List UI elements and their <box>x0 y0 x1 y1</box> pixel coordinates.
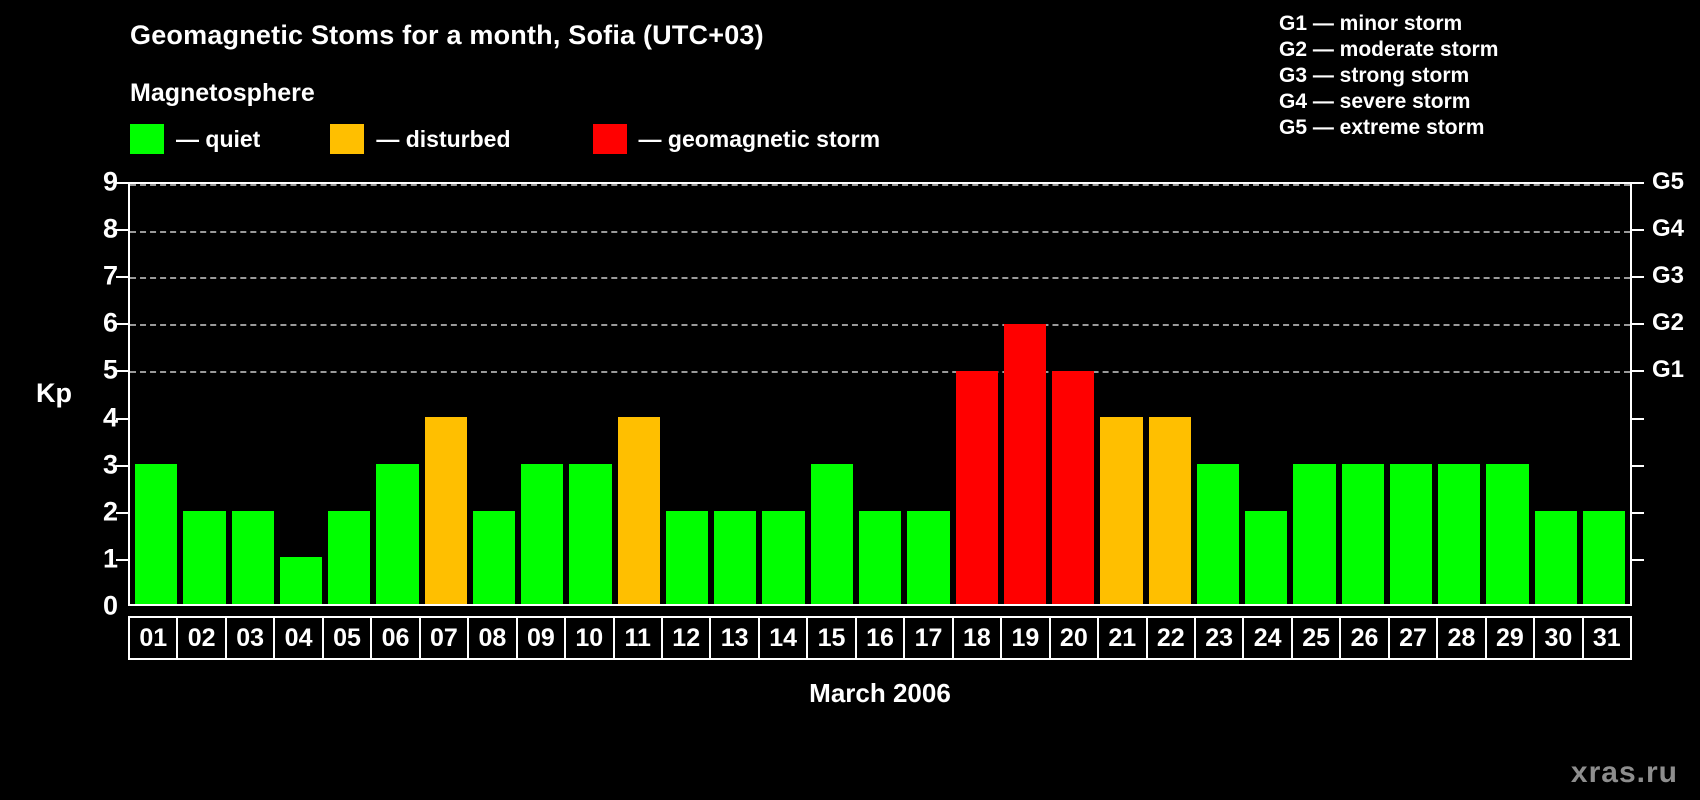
y-axis-tick-label: 8 <box>84 214 118 245</box>
watermark: xras.ru <box>1571 756 1678 790</box>
x-axis-day-cell[interactable]: 25 <box>1293 618 1341 658</box>
y-axis-tick-label: 0 <box>84 591 118 622</box>
bar-slot[interactable] <box>325 184 373 604</box>
x-axis-day-cell[interactable]: 27 <box>1390 618 1438 658</box>
x-axis-day-cell[interactable]: 26 <box>1341 618 1389 658</box>
bar-slot[interactable] <box>1483 184 1531 604</box>
x-axis-day-cell[interactable]: 18 <box>954 618 1002 658</box>
y-axis-tick-mark <box>116 323 128 325</box>
bar-slot[interactable] <box>229 184 277 604</box>
g-axis-tick-mark <box>1632 512 1644 514</box>
bar-slot[interactable] <box>1387 184 1435 604</box>
bar-slot[interactable] <box>759 184 807 604</box>
bar-slot[interactable] <box>953 184 1001 604</box>
x-axis-day-labels: 0102030405060708091011121314151617181920… <box>128 616 1632 660</box>
bar-slot[interactable] <box>663 184 711 604</box>
y-axis-tick-mark <box>116 370 128 372</box>
x-axis-day-cell[interactable]: 20 <box>1051 618 1099 658</box>
g-axis-tick-label: G3 <box>1652 262 1684 290</box>
bar[interactable] <box>1342 464 1384 604</box>
x-axis-day-cell[interactable]: 21 <box>1099 618 1147 658</box>
bar[interactable] <box>1052 371 1094 604</box>
bar-slot[interactable] <box>132 184 180 604</box>
y-axis-tick-label: 2 <box>84 496 118 527</box>
x-axis-day-cell[interactable]: 02 <box>178 618 226 658</box>
bar[interactable] <box>232 511 274 604</box>
y-axis-tick-mark <box>116 418 128 420</box>
bar[interactable] <box>1100 417 1142 604</box>
bar[interactable] <box>1486 464 1528 604</box>
g-axis-tick-mark <box>1632 323 1644 325</box>
bar-slot[interactable] <box>566 184 614 604</box>
y-axis-tick-label: 9 <box>84 167 118 198</box>
g-axis-tick-label: G1 <box>1652 356 1684 384</box>
bar-slot[interactable] <box>1001 184 1049 604</box>
bar-slot[interactable] <box>808 184 856 604</box>
bar[interactable] <box>618 417 660 604</box>
g-axis-tick-label: G2 <box>1652 309 1684 337</box>
bar[interactable] <box>183 511 225 604</box>
x-axis-day-cell[interactable]: 19 <box>1002 618 1050 658</box>
x-axis-day-cell[interactable]: 22 <box>1148 618 1196 658</box>
bar[interactable] <box>1390 464 1432 604</box>
x-axis-day-cell[interactable]: 29 <box>1487 618 1535 658</box>
bar-slot[interactable] <box>422 184 470 604</box>
x-axis-day-cell[interactable]: 24 <box>1244 618 1292 658</box>
y-axis-tick-mark <box>116 465 128 467</box>
bar[interactable] <box>280 557 322 604</box>
g-axis-tick-mark <box>1632 229 1644 231</box>
bar-slot[interactable] <box>615 184 663 604</box>
g-axis-tick-mark <box>1632 276 1644 278</box>
bar-slot[interactable] <box>711 184 759 604</box>
x-axis-day-cell[interactable]: 17 <box>905 618 953 658</box>
bar-slot[interactable] <box>1532 184 1580 604</box>
y-axis-tick-mark <box>116 182 128 184</box>
bar-slot[interactable] <box>856 184 904 604</box>
y-axis-tick-mark <box>116 229 128 231</box>
plot-area <box>128 182 1632 606</box>
bar-slot[interactable] <box>180 184 228 604</box>
x-axis-day-cell[interactable]: 23 <box>1196 618 1244 658</box>
y-axis-tick-label: 4 <box>84 402 118 433</box>
x-axis-day-cell[interactable]: 04 <box>275 618 323 658</box>
plot-wrapper: Kp 0123456789 G1G2G3G4G5 010203040506070… <box>0 0 1700 800</box>
g-axis-tick-mark <box>1632 559 1644 561</box>
bar-slot[interactable] <box>1435 184 1483 604</box>
bars-container <box>130 184 1630 604</box>
bar-slot[interactable] <box>1290 184 1338 604</box>
bar[interactable] <box>1293 464 1335 604</box>
g-axis-tick-label: G5 <box>1652 168 1684 196</box>
bar-slot[interactable] <box>1146 184 1194 604</box>
y-axis-tick-mark <box>116 559 128 561</box>
x-axis-day-cell[interactable]: 09 <box>518 618 566 658</box>
bar[interactable] <box>569 464 611 604</box>
bar[interactable] <box>1004 324 1046 604</box>
bar[interactable] <box>811 464 853 604</box>
bar[interactable] <box>376 464 418 604</box>
x-axis-day-cell[interactable]: 31 <box>1584 618 1630 658</box>
x-axis-day-cell[interactable]: 13 <box>711 618 759 658</box>
bar-slot[interactable] <box>470 184 518 604</box>
y-axis-tick-label: 6 <box>84 308 118 339</box>
y-axis-tick-label: 7 <box>84 261 118 292</box>
bar-slot[interactable] <box>277 184 325 604</box>
x-axis-day-cell[interactable]: 28 <box>1438 618 1486 658</box>
bar-slot[interactable] <box>1580 184 1628 604</box>
bar[interactable] <box>473 511 515 604</box>
x-axis-day-cell[interactable]: 10 <box>566 618 614 658</box>
x-axis-day-cell[interactable]: 11 <box>615 618 663 658</box>
bar[interactable] <box>956 371 998 604</box>
x-axis-day-cell[interactable]: 08 <box>469 618 517 658</box>
bar-slot[interactable] <box>1049 184 1097 604</box>
bar[interactable] <box>714 511 756 604</box>
y-axis-tick-label: 1 <box>84 543 118 574</box>
bar[interactable] <box>1438 464 1480 604</box>
bar[interactable] <box>666 511 708 604</box>
y-axis-tick-mark <box>116 512 128 514</box>
bar-slot[interactable] <box>1194 184 1242 604</box>
x-axis-title: March 2006 <box>128 678 1632 709</box>
x-axis-day-cell[interactable]: 03 <box>227 618 275 658</box>
bar[interactable] <box>1197 464 1239 604</box>
x-axis-day-cell[interactable]: 05 <box>324 618 372 658</box>
bar[interactable] <box>1149 417 1191 604</box>
bar-slot[interactable] <box>1242 184 1290 604</box>
bar-slot[interactable] <box>1097 184 1145 604</box>
bar[interactable] <box>1245 511 1287 604</box>
bar-slot[interactable] <box>518 184 566 604</box>
x-axis-day-cell[interactable]: 14 <box>760 618 808 658</box>
x-axis-day-cell[interactable]: 07 <box>421 618 469 658</box>
x-axis-day-cell[interactable]: 30 <box>1535 618 1583 658</box>
bar-slot[interactable] <box>1339 184 1387 604</box>
y-axis-tick-label: 3 <box>84 449 118 480</box>
bar-slot[interactable] <box>373 184 421 604</box>
x-axis-day-cell[interactable]: 16 <box>857 618 905 658</box>
bar[interactable] <box>328 511 370 604</box>
x-axis-day-cell[interactable]: 01 <box>130 618 178 658</box>
bar[interactable] <box>762 511 804 604</box>
bar[interactable] <box>521 464 563 604</box>
chart-root: Geomagnetic Stoms for a month, Sofia (UT… <box>0 0 1700 800</box>
y-axis-title: Kp <box>36 378 72 409</box>
g-axis-tick-mark <box>1632 182 1644 184</box>
g-axis-tick-label: G4 <box>1652 215 1684 243</box>
g-axis-tick-mark <box>1632 370 1644 372</box>
g-axis-tick-mark <box>1632 418 1644 420</box>
bar[interactable] <box>907 511 949 604</box>
y-axis-tick-mark <box>116 276 128 278</box>
bar-slot[interactable] <box>904 184 952 604</box>
bar[interactable] <box>135 464 177 604</box>
bar[interactable] <box>859 511 901 604</box>
g-axis-tick-mark <box>1632 465 1644 467</box>
bar[interactable] <box>1535 511 1577 604</box>
x-axis-day-cell[interactable]: 12 <box>663 618 711 658</box>
bar[interactable] <box>425 417 467 604</box>
bar[interactable] <box>1583 511 1625 604</box>
x-axis-day-cell[interactable]: 15 <box>808 618 856 658</box>
x-axis-day-cell[interactable]: 06 <box>372 618 420 658</box>
y-axis-tick-label: 5 <box>84 355 118 386</box>
